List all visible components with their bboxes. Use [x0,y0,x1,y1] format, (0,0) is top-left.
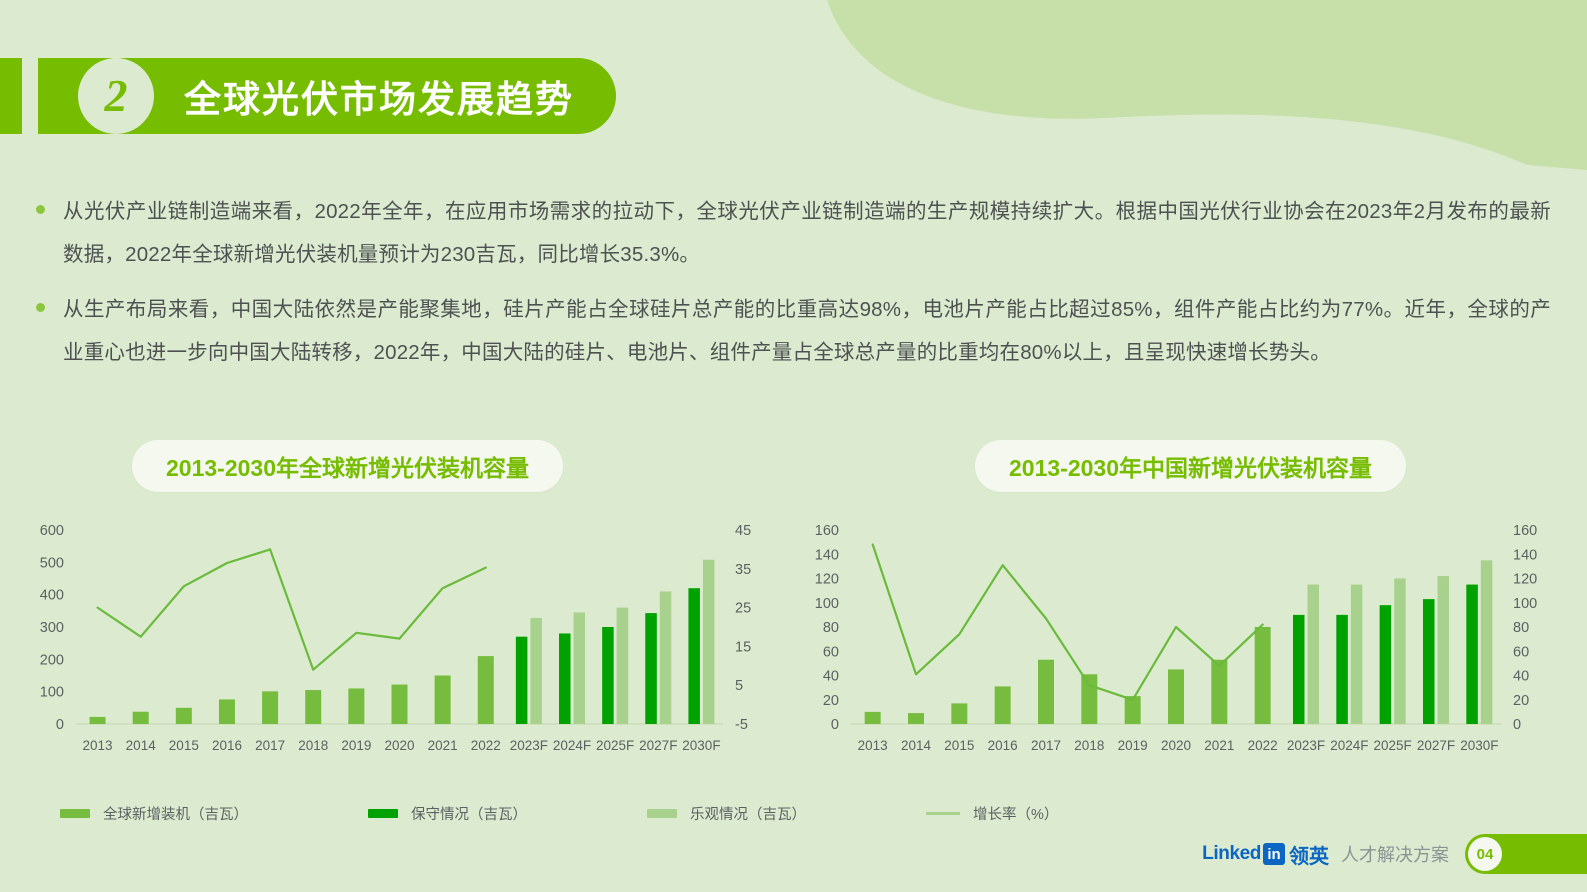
chart-bar [1466,585,1478,724]
page-number: 04 [1477,846,1494,863]
legend-item: 增长率（%） [926,803,1058,824]
chart-title-global: 2013-2030年全球新增光伏装机容量 [132,440,563,492]
y2-axis-tick: 120 [1513,572,1537,588]
y2-axis-tick: 25 [735,601,751,617]
y2-axis-tick: 5 [735,678,743,694]
brand-in-icon: in [1263,843,1285,865]
y-axis-tick: 300 [40,620,64,636]
x-axis-tick: 2027F [639,738,677,753]
chart-bar [348,688,364,724]
section-number: 2 [105,73,128,119]
chart-bar [1211,660,1227,724]
x-axis-tick: 2017 [1031,738,1061,753]
x-axis-tick: 2018 [1074,738,1104,753]
x-axis-tick: 2030F [682,738,720,753]
chart-bar [660,591,672,724]
global-chart-canvas: 0100200300400500600-55152535452013201420… [20,508,775,776]
y2-axis-tick: 80 [1513,620,1529,636]
brand-linkedin-cn: 领英 [1289,840,1329,869]
y2-axis-tick: 60 [1513,644,1529,660]
legend-line-swatch [926,812,960,815]
chart-bar [435,676,451,725]
x-axis-tick: 2016 [988,738,1018,753]
y-axis-tick: 160 [815,523,839,539]
y2-axis-tick: 0 [1513,717,1521,733]
x-axis-tick: 2020 [1161,738,1191,753]
x-axis-tick: 2023F [510,738,548,753]
legend-label: 增长率（%） [973,803,1058,824]
x-axis-tick: 2025F [1374,738,1412,753]
x-axis-tick: 2025F [596,738,634,753]
brand-linkedin-word: Linked [1202,843,1261,865]
chart-bar [908,713,924,724]
x-axis-tick: 2017 [255,738,285,753]
y2-axis-tick: 15 [735,639,751,655]
y-axis-tick: 0 [831,717,839,733]
chart-bar [392,685,408,724]
x-axis-tick: 2016 [212,738,242,753]
chart-bar [617,608,629,724]
y2-axis-tick: 35 [735,562,751,578]
legend-label: 乐观情况（吉瓦） [690,803,806,824]
x-axis-tick: 2021 [1204,738,1234,753]
x-axis-tick: 2019 [341,738,371,753]
x-axis-tick: 2022 [1248,738,1278,753]
chart-bar [133,712,149,724]
x-axis-tick: 2015 [944,738,974,753]
chart-line-series [873,545,1263,700]
x-axis-tick: 2019 [1118,738,1148,753]
chart-bar [1255,627,1271,724]
chart-bar [1351,585,1363,724]
section-number-badge: 2 [78,58,154,134]
chart-bar [574,612,586,724]
chart-title-china-text: 2013-2030年中国新增光伏装机容量 [1009,449,1372,483]
bullet-text: 从生产布局来看，中国大陆依然是产能聚集地，硅片产能占全球硅片总产能的比重高达98… [63,288,1551,374]
chart-bar [1336,615,1348,724]
x-axis-tick: 2014 [126,738,157,753]
x-axis-tick: 2018 [298,738,328,753]
chart-bar [1481,560,1493,724]
x-axis-tick: 2013 [83,738,113,753]
chart-china-capacity: 0204060801001201401600204060801001201401… [795,508,1555,776]
chart-bar [688,588,700,724]
y-axis-tick: 20 [823,693,839,709]
y-axis-tick: 500 [40,555,64,571]
legend-item: 乐观情况（吉瓦） [647,803,806,824]
header-accent-bar [0,58,22,134]
chart-bar [478,656,494,724]
chart-bar [559,633,571,724]
x-axis-tick: 2022 [471,738,501,753]
y2-axis-tick: 40 [1513,669,1529,685]
y2-axis-tick: 45 [735,523,751,539]
chart-bar [90,717,106,724]
chart-bar [1081,674,1097,724]
bullet-item: 从生产布局来看，中国大陆依然是产能聚集地，硅片产能占全球硅片总产能的比重高达98… [36,288,1551,374]
y2-axis-tick: 160 [1513,523,1537,539]
y-axis-tick: 400 [40,588,64,604]
legend-swatch [647,809,677,818]
y-axis-tick: 600 [40,523,64,539]
china-chart-canvas: 0204060801001201401600204060801001201401… [795,508,1555,776]
x-axis-tick: 2013 [858,738,888,753]
x-axis-tick: 2024F [553,738,591,753]
chart-bar [951,703,967,724]
chart-bar [645,613,657,724]
chart-bar [1423,599,1435,724]
bullet-text: 从光伏产业链制造端来看，2022年全年，在应用市场需求的拉动下，全球光伏产业链制… [63,190,1551,276]
x-axis-tick: 2023F [1287,738,1325,753]
chart-bar [1438,576,1450,724]
y2-axis-tick: -5 [735,717,748,733]
chart-bar [305,690,321,724]
legend-label: 全球新增装机（吉瓦） [103,803,248,824]
y-axis-tick: 0 [56,717,64,733]
y-axis-tick: 120 [815,572,839,588]
chart-bar [1380,605,1392,724]
chart-bar [602,627,614,724]
section-header: 2 全球光伏市场发展趋势 [0,58,616,134]
page-number-pill: 04 [1465,834,1587,874]
legend-swatch [60,809,90,818]
page-number-badge: 04 [1468,837,1502,871]
legend-item: 全球新增装机（吉瓦） [60,803,248,824]
x-axis-tick: 2020 [384,738,414,753]
chart-line-series [98,549,486,669]
corner-wave-decoration [767,0,1587,170]
chart-title-china: 2013-2030年中国新增光伏装机容量 [975,440,1406,492]
y-axis-tick: 100 [815,596,839,612]
header-pill: 2 全球光伏市场发展趋势 [38,58,616,134]
chart-bar [262,691,278,724]
chart-bar [1293,615,1305,724]
y-axis-tick: 60 [823,644,839,660]
legend-item: 保守情况（吉瓦） [368,803,527,824]
y2-axis-tick: 100 [1513,596,1537,612]
chart-legend: 全球新增装机（吉瓦） 保守情况（吉瓦） 乐观情况（吉瓦） 增长率（%） [60,803,1178,824]
y-axis-tick: 140 [815,547,839,563]
chart-bar [1038,660,1054,724]
y-axis-tick: 40 [823,669,839,685]
chart-bar [995,686,1011,724]
chart-bar [1168,669,1184,724]
brand-slogan: 人才解决方案 [1341,841,1449,867]
legend-label: 保守情况（吉瓦） [411,803,527,824]
chart-bar [1308,585,1320,724]
x-axis-tick: 2024F [1330,738,1368,753]
footer: Linkedin领英 人才解决方案 04 [1202,834,1587,874]
chart-bar [176,708,192,724]
body-copy: 从光伏产业链制造端来看，2022年全年，在应用市场需求的拉动下，全球光伏产业链制… [36,190,1551,386]
chart-bar [703,560,715,724]
y-axis-tick: 80 [823,620,839,636]
x-axis-tick: 2030F [1460,738,1498,753]
bullet-dot-icon [36,303,45,312]
page-title: 全球光伏市场发展趋势 [184,69,574,123]
chart-bar [530,618,542,724]
x-axis-tick: 2021 [428,738,458,753]
x-axis-tick: 2015 [169,738,199,753]
y2-axis-tick: 20 [1513,693,1529,709]
bullet-dot-icon [36,205,45,214]
y-axis-tick: 100 [40,685,64,701]
chart-bar [219,699,235,724]
chart-bar [865,712,881,724]
y2-axis-tick: 140 [1513,547,1537,563]
x-axis-tick: 2014 [901,738,932,753]
chart-bar [1394,579,1406,725]
chart-global-capacity: 0100200300400500600-55152535452013201420… [20,508,775,776]
bullet-item: 从光伏产业链制造端来看，2022年全年，在应用市场需求的拉动下，全球光伏产业链制… [36,190,1551,276]
legend-swatch [368,809,398,818]
chart-title-global-text: 2013-2030年全球新增光伏装机容量 [166,449,529,483]
x-axis-tick: 2027F [1417,738,1455,753]
chart-bar [516,637,528,724]
y-axis-tick: 200 [40,652,64,668]
